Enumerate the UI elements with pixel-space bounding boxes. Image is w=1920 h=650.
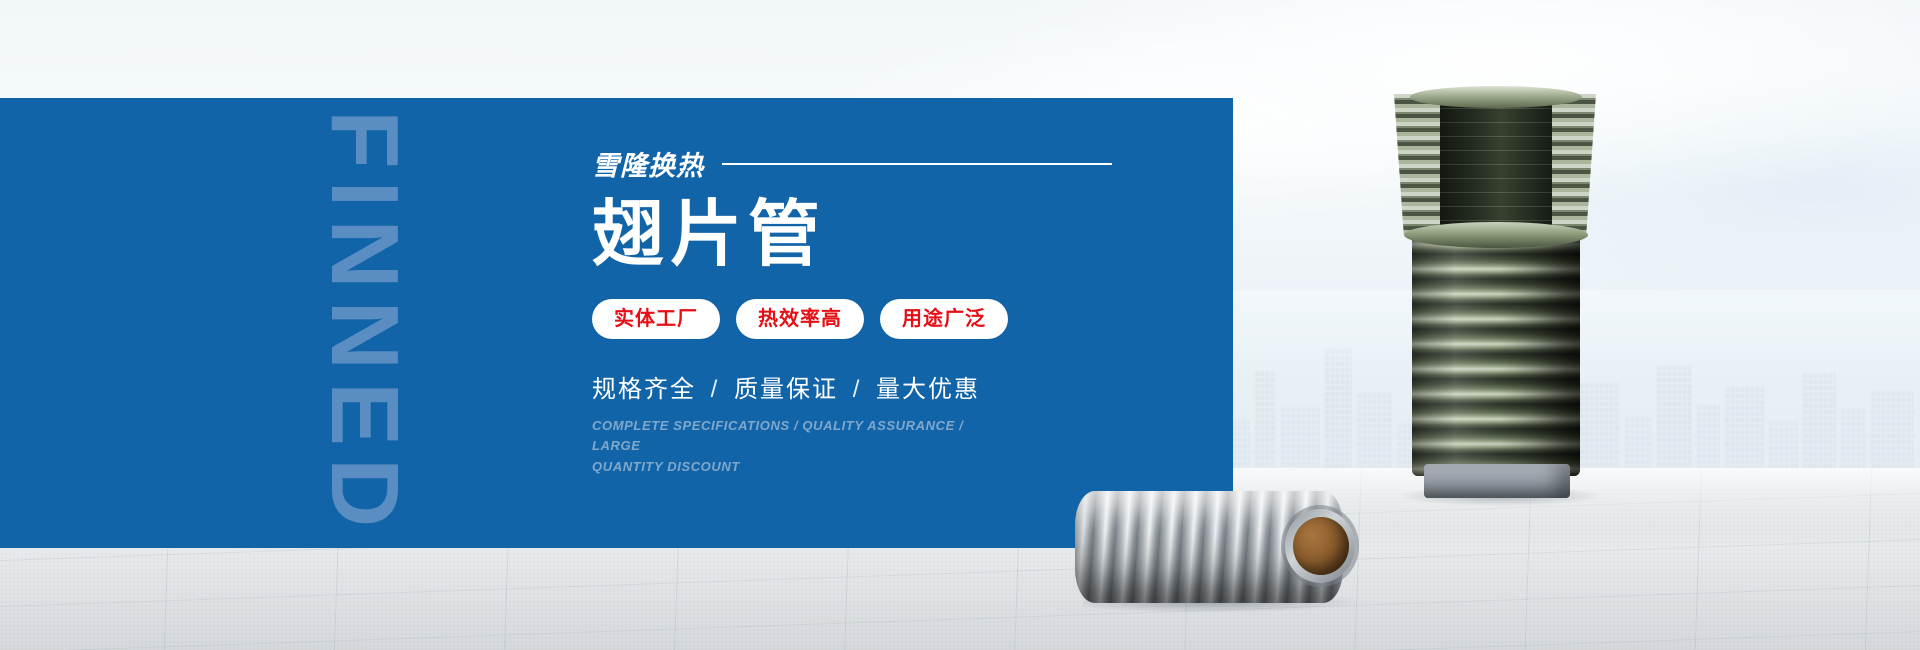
vertical-finned-tube-product	[1372, 82, 1622, 482]
specs-english-line-1: COMPLETE SPECIFICATIONS / QUALITY ASSURA…	[592, 416, 992, 456]
brand-row: 雪隆换热	[592, 144, 1112, 183]
spec-separator-2: /	[847, 376, 868, 403]
specs-english-line-2: QUANTITY DISCOUNT	[592, 457, 992, 477]
promo-banner: FINNED 雪隆换热 翅片管 实体工厂 热效率高 用途广泛 规格齐全 / 质量…	[0, 0, 1920, 650]
spec-item-1: 规格齐全	[592, 376, 696, 403]
spec-item-3: 量大优惠	[876, 376, 980, 403]
vertical-tube-foot	[1424, 464, 1570, 498]
brand-name: 雪隆换热	[592, 144, 704, 183]
page-title: 翅片管	[592, 197, 1112, 273]
specs-line: 规格齐全 / 质量保证 / 量大优惠	[592, 369, 1112, 404]
horizontal-tube-copper-core	[1293, 517, 1349, 575]
feature-pill-list: 实体工厂 热效率高 用途广泛	[592, 299, 1112, 339]
spec-item-2: 质量保证	[734, 376, 838, 403]
vertical-tube-mid-flange	[1404, 222, 1588, 248]
horizontal-finned-tube-product	[1075, 487, 1375, 617]
specs-english: COMPLETE SPECIFICATIONS / QUALITY ASSURA…	[592, 416, 992, 476]
feature-pill-3[interactable]: 用途广泛	[880, 299, 1008, 339]
feature-pill-1[interactable]: 实体工厂	[592, 299, 720, 339]
finned-watermark-text: FINNED	[316, 110, 412, 550]
banner-content: 雪隆换热 翅片管 实体工厂 热效率高 用途广泛 规格齐全 / 质量保证 / 量大…	[592, 98, 1112, 548]
feature-pill-2[interactable]: 热效率高	[736, 299, 864, 339]
spec-separator-1: /	[705, 376, 726, 403]
vertical-tube-top-cap	[1410, 86, 1582, 108]
vertical-tube-core	[1440, 94, 1552, 232]
brand-divider-rule	[722, 163, 1112, 165]
